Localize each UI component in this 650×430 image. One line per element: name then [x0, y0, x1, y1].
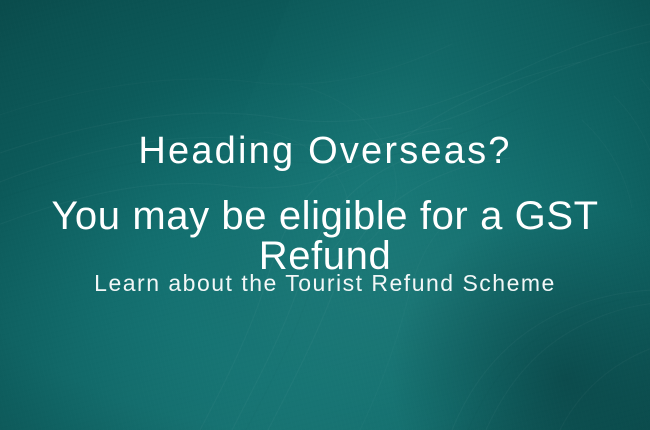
banner-content: Heading Overseas? You may be eligible fo… — [0, 0, 650, 430]
banner-tagline: Learn about the Tourist Refund Scheme — [0, 272, 650, 295]
tourist-refund-promo-banner: Heading Overseas? You may be eligible fo… — [0, 0, 650, 430]
banner-subheadline: You may be eligible for a GST Refund — [0, 196, 650, 276]
banner-headline: Heading Overseas? — [0, 132, 650, 170]
